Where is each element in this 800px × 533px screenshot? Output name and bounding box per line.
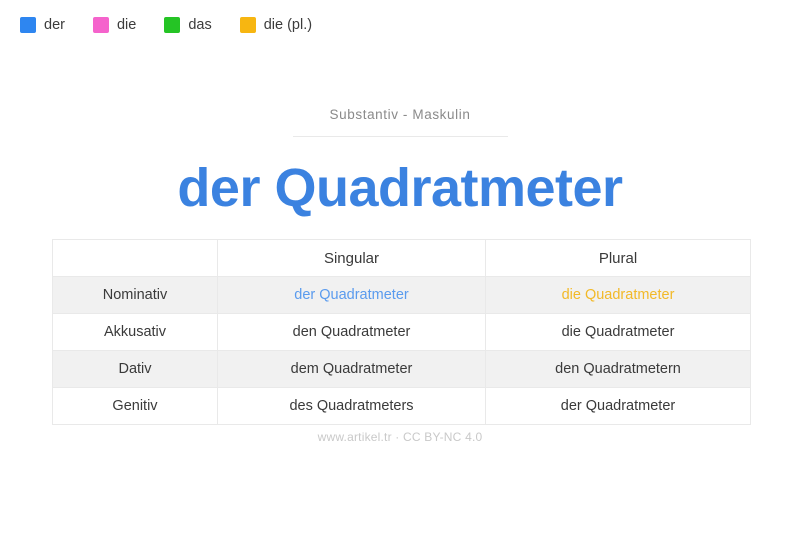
legend-item-der[interactable]: der [20,17,65,33]
table-header: Singular Plural [53,240,751,277]
case-label-cell: Akkusativ [53,314,218,351]
header-block: Substantiv - Maskulin der Quadratmeter [0,108,800,218]
word-type-subtitle: Substantiv - Maskulin [0,108,800,136]
plural-form-cell: die Quadratmeter [486,277,751,314]
subtitle-divider [293,136,508,137]
legend-item-das[interactable]: das [164,17,211,33]
color-swatch-icon [164,17,180,33]
color-swatch-icon [240,17,256,33]
case-label-cell: Dativ [53,351,218,388]
plural-form-cell: der Quadratmeter [486,388,751,425]
singular-form-cell: des Quadratmeters [218,388,486,425]
case-label-cell: Genitiv [53,388,218,425]
article-legend: derdiedasdie (pl.) [20,17,340,33]
page-content: derdiedasdie (pl.) Substantiv - Maskulin… [0,0,800,533]
legend-item-label: die [117,18,136,33]
singular-form-cell: der Quadratmeter [218,277,486,314]
case-label-cell: Nominativ [53,277,218,314]
legend-item-label: das [188,18,211,33]
singular-form-cell: dem Quadratmeter [218,351,486,388]
table-header-row: Singular Plural [53,240,751,277]
table-row: Dativdem Quadratmeterden Quadratmetern [53,351,751,388]
table-body: Nominativder Quadratmeterdie Quadratmete… [53,277,751,425]
color-swatch-icon [93,17,109,33]
page-title: der Quadratmeter [0,159,800,218]
plural-form-cell: den Quadratmetern [486,351,751,388]
column-header-singular: Singular [218,240,486,277]
footer-credit: www.artikel.tr · CC BY-NC 4.0 [0,430,800,444]
table-row: Nominativder Quadratmeterdie Quadratmete… [53,277,751,314]
singular-form-cell: den Quadratmeter [218,314,486,351]
column-header-plural: Plural [486,240,751,277]
legend-item-diepl[interactable]: die (pl.) [240,17,312,33]
column-header-case [53,240,218,277]
legend-item-label: der [44,18,65,33]
declension-table: Singular Plural Nominativder Quadratmete… [52,239,751,425]
table-row: Genitivdes Quadratmetersder Quadratmeter [53,388,751,425]
color-swatch-icon [20,17,36,33]
plural-form-cell: die Quadratmeter [486,314,751,351]
legend-item-die[interactable]: die [93,17,136,33]
legend-item-label: die (pl.) [264,18,312,33]
table-row: Akkusativden Quadratmeterdie Quadratmete… [53,314,751,351]
